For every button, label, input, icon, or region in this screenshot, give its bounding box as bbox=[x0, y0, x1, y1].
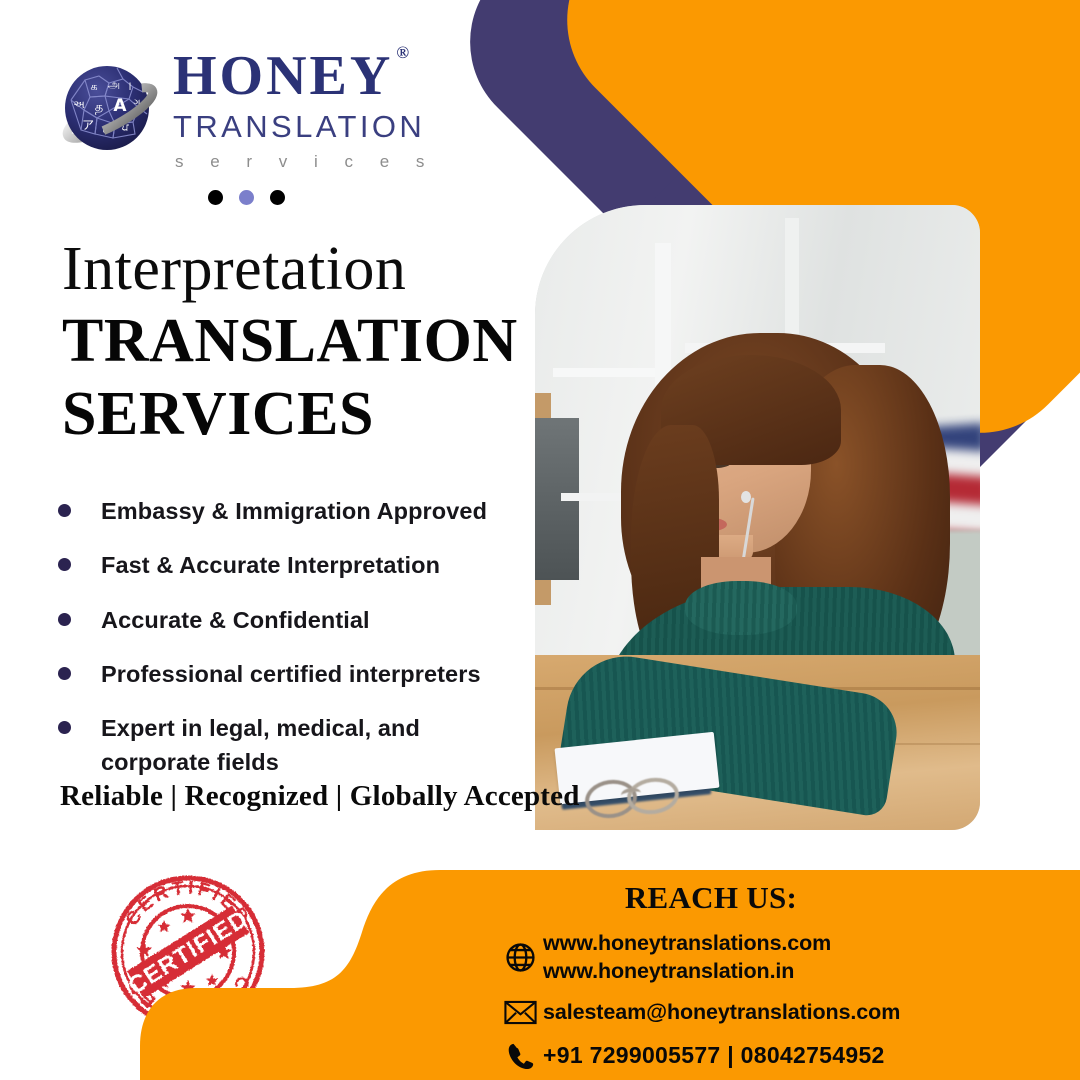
globe-icon bbox=[497, 941, 543, 974]
bullet-icon bbox=[58, 613, 71, 626]
bullet-icon bbox=[58, 721, 71, 734]
dot-2 bbox=[239, 190, 254, 205]
dot-1 bbox=[208, 190, 223, 205]
headline-main: TRANSLATION SERVICES bbox=[62, 305, 518, 450]
website-row[interactable]: www.honeytranslations.com www.honeytrans… bbox=[497, 930, 1057, 985]
svg-text:த: த bbox=[95, 100, 103, 115]
phone-row[interactable]: +91 7299005577 | 08042754952 bbox=[497, 1041, 1057, 1072]
svg-text:ア: ア bbox=[82, 118, 94, 132]
poster-canvas: க அ ا અ த A ગુ ア ഒ ਪ HONEY® TRANSLATION … bbox=[0, 0, 1080, 1080]
photo-earphone-bud bbox=[741, 491, 751, 503]
tagline: Reliable | Recognized | Globally Accepte… bbox=[60, 780, 580, 813]
svg-text:અ: અ bbox=[73, 98, 85, 111]
dot-3 bbox=[270, 190, 285, 205]
svg-text:அ: அ bbox=[108, 78, 120, 91]
email-row[interactable]: salesteam@honeytranslations.com bbox=[497, 999, 1057, 1027]
logo-tertiary-text: s e r v i c e s bbox=[173, 153, 473, 170]
svg-text:க: க bbox=[90, 80, 97, 93]
bullet-icon bbox=[58, 558, 71, 571]
bullet-icon bbox=[58, 667, 71, 680]
logo-secondary-text: TRANSLATION bbox=[173, 111, 473, 142]
list-item: Expert in legal, medical, and corporate … bbox=[58, 711, 528, 780]
logo-name: HONEY bbox=[173, 45, 393, 107]
headline-script: Interpretation bbox=[62, 238, 406, 300]
website-url-secondary[interactable]: www.honeytranslation.in bbox=[543, 958, 831, 986]
headline-line-1: TRANSLATION bbox=[62, 305, 518, 378]
email-address[interactable]: salesteam@honeytranslations.com bbox=[543, 999, 900, 1027]
list-item: Fast & Accurate Interpretation bbox=[58, 548, 528, 582]
list-item-label: Professional certified interpreters bbox=[101, 657, 481, 691]
registered-trademark-icon: ® bbox=[396, 44, 412, 61]
contact-details: REACH US: www.honeytranslations.com www.… bbox=[497, 880, 1057, 1072]
phone-icon bbox=[497, 1041, 543, 1072]
svg-text:ا: ا bbox=[129, 82, 132, 93]
globe-languages-icon: க அ ا અ த A ગુ ア ഒ ਪ bbox=[55, 56, 165, 166]
photo-turtleneck-collar bbox=[685, 581, 797, 635]
svg-text:A: A bbox=[113, 96, 127, 116]
list-item: Professional certified interpreters bbox=[58, 657, 528, 691]
reach-us-heading: REACH US: bbox=[511, 880, 911, 916]
website-url-primary[interactable]: www.honeytranslations.com bbox=[543, 930, 831, 958]
list-item-label: Expert in legal, medical, and corporate … bbox=[101, 711, 441, 780]
list-item-label: Embassy & Immigration Approved bbox=[101, 494, 487, 528]
decorative-dots bbox=[208, 190, 285, 205]
interpreter-photo bbox=[535, 205, 980, 830]
list-item-label: Fast & Accurate Interpretation bbox=[101, 548, 440, 582]
list-item-label: Accurate & Confidential bbox=[101, 603, 370, 637]
logo-wordmark: HONEY® TRANSLATION s e r v i c e s bbox=[173, 48, 473, 170]
list-item: Embassy & Immigration Approved bbox=[58, 494, 528, 528]
bullet-icon bbox=[58, 504, 71, 517]
logo-primary-text: HONEY® bbox=[173, 48, 473, 104]
phone-numbers[interactable]: +91 7299005577 | 08042754952 bbox=[543, 1041, 885, 1070]
list-item: Accurate & Confidential bbox=[58, 603, 528, 637]
envelope-icon bbox=[497, 999, 543, 1026]
feature-list: Embassy & Immigration Approved Fast & Ac… bbox=[58, 494, 528, 800]
headline-line-2: SERVICES bbox=[62, 378, 518, 451]
